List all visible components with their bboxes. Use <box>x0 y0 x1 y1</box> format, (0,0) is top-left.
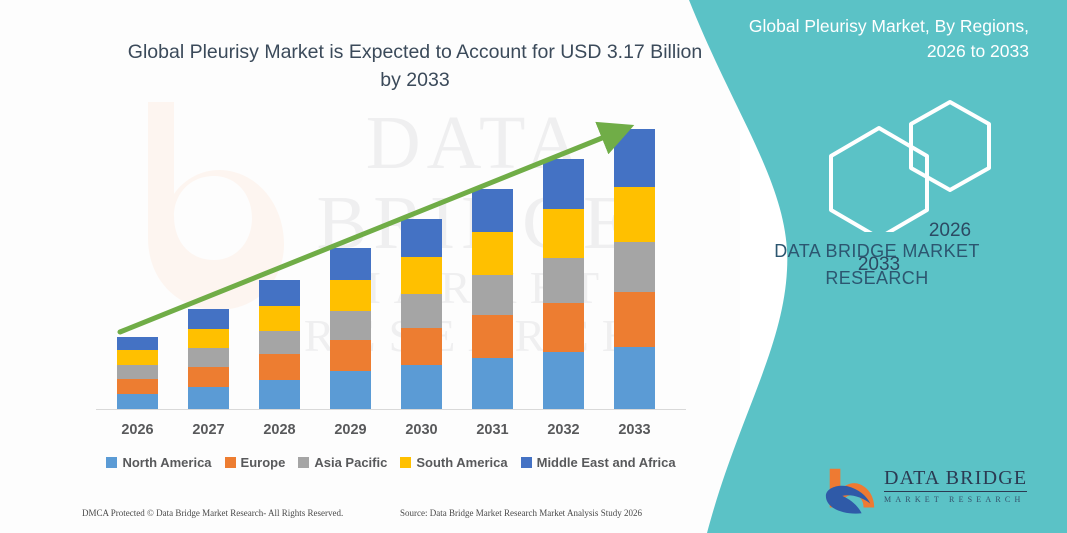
bar-segment <box>472 232 513 275</box>
bar-segment <box>614 347 655 409</box>
bar-segment <box>188 348 229 367</box>
legend-item[interactable]: Asia Pacific <box>298 455 387 470</box>
bar-2027 <box>188 309 229 409</box>
bar-segment <box>259 306 300 331</box>
legend-item[interactable]: South America <box>400 455 507 470</box>
bar-segment <box>472 315 513 359</box>
bar-2033 <box>614 129 655 409</box>
x-axis-label-2032: 2032 <box>534 422 594 438</box>
bar-segment <box>472 358 513 409</box>
bar-segment <box>259 280 300 306</box>
bar-segment <box>330 311 371 340</box>
brand-name: DATA BRIDGE MARKET RESEARCH <box>727 238 1027 292</box>
legend-label: Middle East and Africa <box>537 455 676 470</box>
chart-title: Global Pleurisy Market is Expected to Ac… <box>120 38 710 95</box>
bar-segment <box>472 275 513 315</box>
bar-segment <box>188 387 229 409</box>
bar-segment <box>401 219 442 257</box>
legend-item[interactable]: Europe <box>225 455 286 470</box>
dbmr-logo: DATA BRIDGE MARKET RESEARCH <box>822 462 1057 522</box>
bar-segment <box>188 329 229 349</box>
legend-swatch-icon <box>106 457 117 468</box>
legend-swatch-icon <box>400 457 411 468</box>
bar-segment <box>401 365 442 409</box>
chart-plot-area <box>96 120 686 410</box>
footer-source: Source: Data Bridge Market Research Mark… <box>400 508 642 518</box>
x-axis-label-2028: 2028 <box>250 422 310 438</box>
bar-segment <box>259 354 300 380</box>
x-axis-label-2027: 2027 <box>179 422 239 438</box>
panel-title: Global Pleurisy Market, By Regions, 2026… <box>729 14 1029 65</box>
bar-segment <box>188 367 229 387</box>
bar-segment <box>401 328 442 366</box>
x-axis-label-2030: 2030 <box>392 422 452 438</box>
legend-label: North America <box>122 455 211 470</box>
bar-segment <box>401 294 442 328</box>
brand-panel: Global Pleurisy Market, By Regions, 2026… <box>667 0 1067 533</box>
bar-segment <box>117 394 158 409</box>
x-axis-label-2031: 2031 <box>463 422 523 438</box>
bar-2031 <box>472 189 513 409</box>
dbmr-logo-sub: MARKET RESEARCH <box>884 495 1027 504</box>
bar-segment <box>117 337 158 351</box>
bar-segment <box>543 159 584 210</box>
bar-segment <box>543 352 584 409</box>
legend-swatch-icon <box>298 457 309 468</box>
bar-segment <box>401 257 442 294</box>
legend-item[interactable]: Middle East and Africa <box>521 455 676 470</box>
legend-swatch-icon <box>225 457 236 468</box>
dbmr-logo-main: DATA BRIDGE <box>884 467 1027 492</box>
bar-segment <box>117 365 158 379</box>
bar-2032 <box>543 159 584 409</box>
hexagon-outlines-icon <box>767 92 1027 232</box>
bar-segment <box>543 258 584 303</box>
x-axis-line <box>96 409 686 410</box>
legend-item[interactable]: North America <box>106 455 211 470</box>
dbmr-logo-mark-icon <box>822 464 880 519</box>
bar-2029 <box>330 248 371 409</box>
legend-label: South America <box>416 455 507 470</box>
bar-segment <box>117 350 158 365</box>
bar-segment <box>259 331 300 355</box>
chart-panel: DATA BRIDGE MARKET RESEARCH Global Pleur… <box>0 0 740 533</box>
bar-segment <box>543 303 584 353</box>
legend-label: Asia Pacific <box>314 455 387 470</box>
bar-segment <box>330 248 371 280</box>
bar-segment <box>614 242 655 292</box>
bar-segment <box>472 189 513 233</box>
bar-segment <box>259 380 300 409</box>
bar-segment <box>330 371 371 409</box>
footer-copyright: DMCA Protected © Data Bridge Market Rese… <box>82 508 343 518</box>
legend-swatch-icon <box>521 457 532 468</box>
bar-segment <box>330 340 371 372</box>
x-axis-label-2026: 2026 <box>108 422 168 438</box>
bar-group <box>96 121 686 409</box>
footer: DMCA Protected © Data Bridge Market Rese… <box>0 508 700 528</box>
bar-segment <box>188 309 229 329</box>
bar-2028 <box>259 280 300 409</box>
hexagon-badges: 2026 2033 <box>767 92 1027 232</box>
bar-segment <box>117 379 158 394</box>
bar-segment <box>614 187 655 243</box>
bar-segment <box>543 209 584 258</box>
bar-segment <box>614 129 655 187</box>
x-axis-labels: 20262027202820292030203120322033 <box>96 422 686 446</box>
x-axis-label-2033: 2033 <box>605 422 665 438</box>
infographic-page: DATA BRIDGE MARKET RESEARCH Global Pleur… <box>0 0 1067 533</box>
bar-2026 <box>117 337 158 409</box>
bar-segment <box>330 280 371 311</box>
bar-segment <box>614 292 655 348</box>
chart-legend: North AmericaEuropeAsia PacificSouth Ame… <box>96 455 686 470</box>
dbmr-logo-text: DATA BRIDGE MARKET RESEARCH <box>884 467 1027 504</box>
bar-2030 <box>401 219 442 409</box>
legend-label: Europe <box>241 455 286 470</box>
x-axis-label-2029: 2029 <box>321 422 381 438</box>
